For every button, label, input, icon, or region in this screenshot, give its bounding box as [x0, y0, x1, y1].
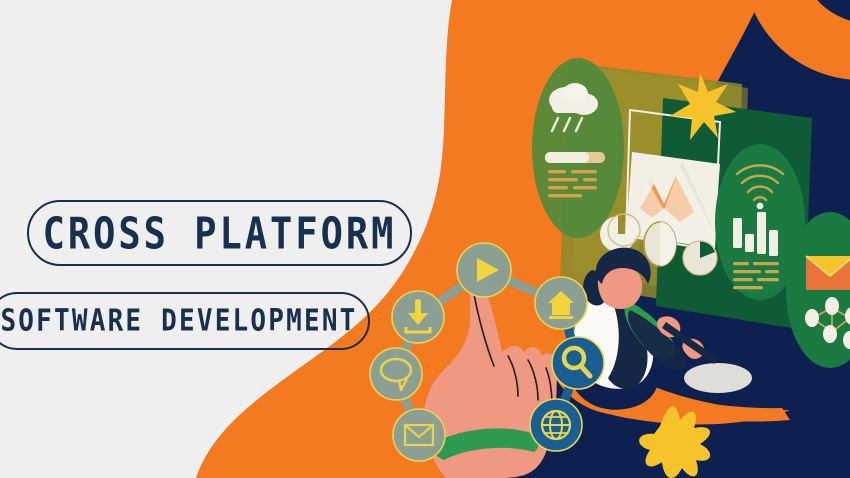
page-title: CROSS PLATFORM: [43, 208, 397, 259]
globe-icon: [530, 399, 582, 451]
search-icon: [552, 337, 604, 389]
play-icon: [457, 243, 511, 297]
home-icon: [535, 277, 587, 329]
pie-slice-icon: [683, 241, 717, 275]
wifi-dot-icon: [757, 203, 764, 210]
desk-highlight: [684, 363, 752, 393]
banner-root: CROSS PLATFORM SOFTWARE DEVELOPMENT: [0, 0, 850, 478]
title-badge: CROSS PLATFORM: [27, 200, 412, 266]
donut-chart-icon: [644, 222, 676, 266]
download-icon: [392, 291, 444, 343]
chat-icon: [370, 348, 422, 400]
page-subtitle: SOFTWARE DEVELOPMENT: [0, 303, 357, 338]
progress-bar: [545, 152, 605, 163]
weather-panel: [532, 58, 624, 238]
subtitle-badge: SOFTWARE DEVELOPMENT: [0, 292, 370, 350]
mail-icon: [393, 409, 445, 461]
envelope-icon: [806, 256, 850, 290]
